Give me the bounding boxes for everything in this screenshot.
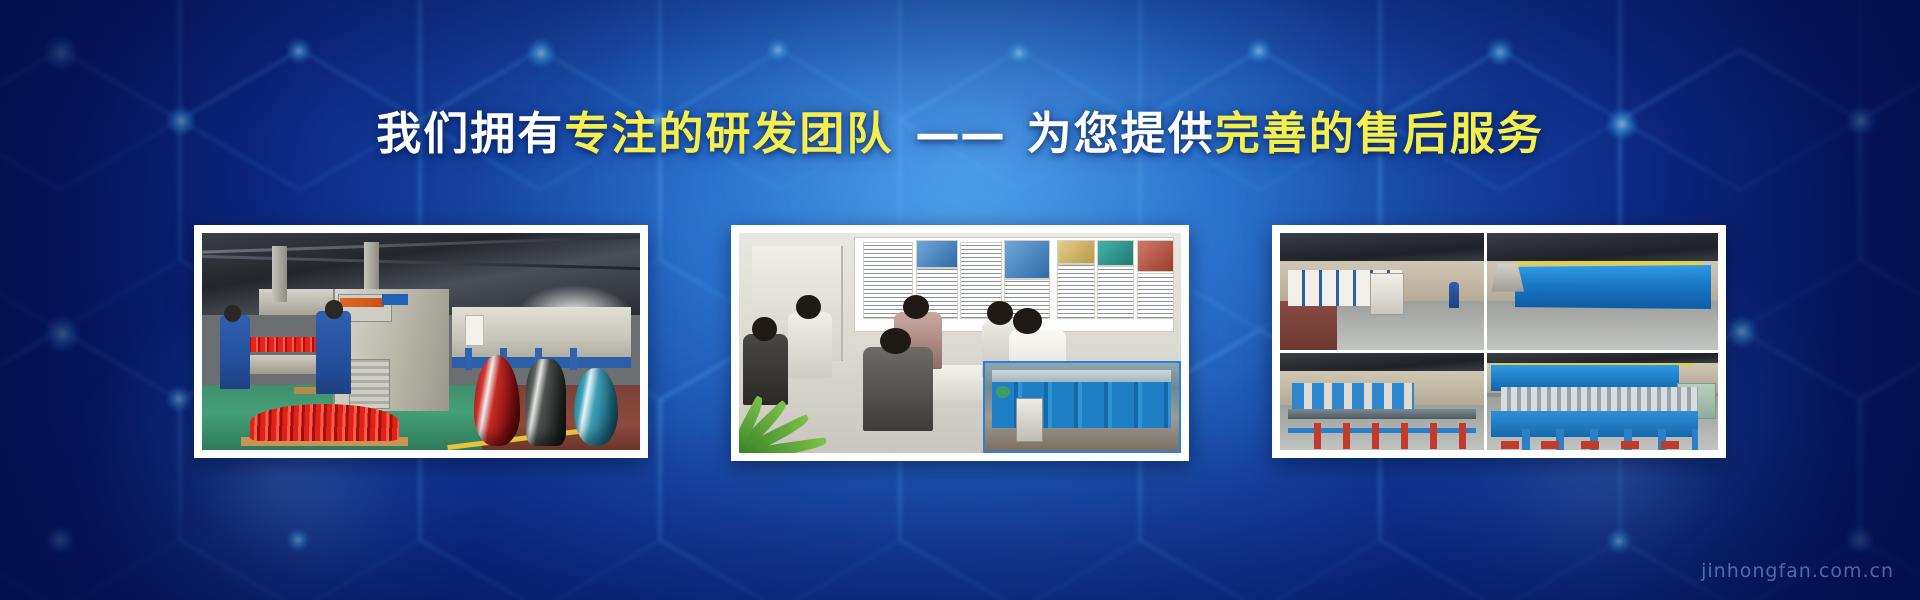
title-dash: —— [911,107,1009,160]
grid-cell-blue-oven [1487,233,1718,350]
photo-frame-production-line[interactable] [194,225,648,458]
photo-gallery [0,225,1920,461]
inset-equipment-photo [983,361,1181,453]
title-segment-3: 为您提供 [1027,107,1215,160]
palm-plant [739,387,867,453]
grid-cell-conveyor [1280,353,1484,450]
photo-frame-customer-meeting[interactable] [731,225,1189,461]
photo-production-line-workers [202,233,640,450]
photo-customer-meeting [739,233,1181,453]
photo-frame-equipment-grid[interactable] [1272,225,1726,458]
site-watermark: jinhongfan.com.cn [1701,560,1894,582]
grid-cell-coating-line [1280,233,1484,350]
page-title: 我们拥有专注的研发团队 —— 为您提供完善的售后服务 [0,106,1920,162]
grid-cell-hanging-line [1487,353,1718,450]
photo-equipment-grid [1280,233,1718,450]
title-segment-1: 我们拥有 [376,107,564,160]
title-segment-2: 专注的研发团队 [564,107,893,160]
promo-banner: 我们拥有专注的研发团队 —— 为您提供完善的售后服务 [0,0,1920,600]
title-segment-4: 完善的售后服务 [1215,107,1544,160]
